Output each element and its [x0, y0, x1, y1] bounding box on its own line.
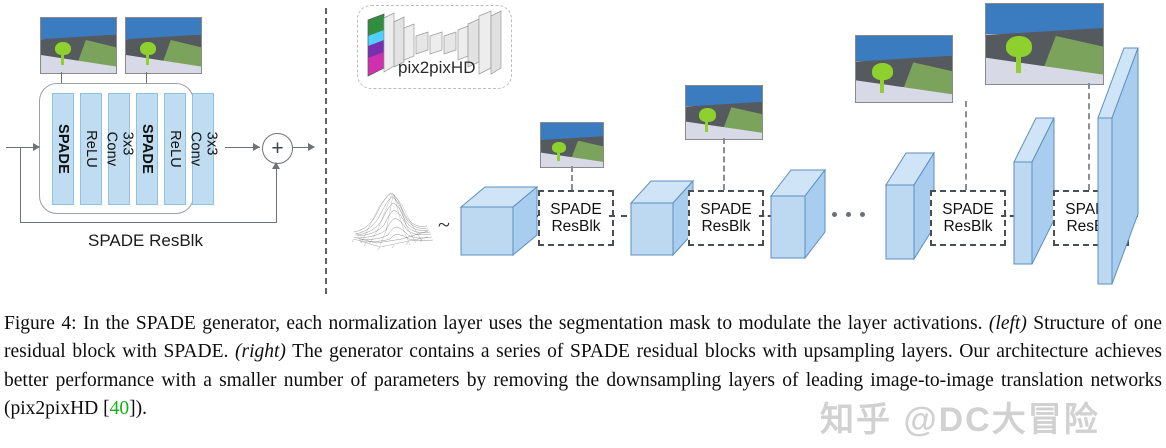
tree-trunk-icon [557, 150, 560, 161]
arrowhead-icon [308, 143, 315, 151]
layer-conv[interactable]: 3x3 Conv [108, 93, 130, 205]
segmentation-mask-image [540, 122, 604, 168]
caption-text-4: ]). [129, 398, 147, 419]
layer-spade[interactable]: SPADE [136, 93, 158, 205]
spade-resblk-node[interactable]: SPADE ResBlk [538, 190, 614, 246]
caption-prefix: Figure 4: [4, 313, 77, 334]
resblk-label-line1: SPADE [550, 201, 601, 218]
layer-label: SPADE [139, 124, 155, 174]
resblk-label-line1: SPADE [942, 201, 993, 218]
gaussian-noise-plot-icon [350, 185, 434, 255]
mask-to-resblk-connector [723, 138, 725, 190]
right-panel: pix2pixHD [340, 0, 1166, 300]
layer-conv[interactable]: 3x3 Conv [192, 93, 214, 205]
segmentation-mask-image [855, 35, 953, 103]
layer-label: 3x3 Conv [187, 132, 219, 167]
skip-connection-down [20, 147, 21, 223]
feature-block[interactable] [455, 183, 543, 263]
figure-caption: Figure 4: In the SPADE generator, each n… [4, 310, 1162, 423]
arrowhead-icon [253, 143, 260, 151]
layer-label: SPADE [55, 124, 71, 174]
layer-label: ReLU [83, 130, 99, 168]
layer-relu[interactable]: ReLU [164, 93, 186, 205]
caption-emphasis-left: (left) [989, 313, 1027, 334]
left-panel: SPADE ReLU 3x3 Conv SPADE ReLU 3x3 Conv … [0, 0, 325, 300]
tree-trunk-icon [1016, 52, 1021, 73]
mask-to-resblk-connector [571, 166, 573, 190]
layer-label: 3x3 Conv [103, 132, 135, 167]
spade-resblk-node[interactable]: SPADE ResBlk [930, 190, 1006, 246]
resblk-label-line2: ResBlk [701, 218, 750, 235]
segmentation-mask-image [40, 17, 117, 74]
caption-text-1: In the SPADE generator, each normalizati… [77, 313, 989, 334]
mask-to-resblk-connector [965, 101, 967, 190]
arrowhead-icon [33, 143, 40, 151]
resblk-label-line2: ResBlk [551, 218, 600, 235]
tree-trunk-icon [61, 51, 64, 65]
layer-label: ReLU [167, 130, 183, 168]
citation-link[interactable]: 40 [110, 398, 130, 419]
pix2pixhd-label: pix2pixHD [398, 58, 475, 78]
ellipsis [832, 212, 865, 217]
distributed-as-symbol: ~ [438, 212, 450, 238]
arrowhead-icon [272, 162, 280, 169]
segmentation-mask-image [125, 17, 202, 74]
pix2pixhd-inset[interactable]: pix2pixHD [357, 5, 512, 89]
skip-connection-up [276, 168, 277, 223]
spade-resblk-node[interactable]: SPADE ResBlk [688, 190, 764, 246]
layer-relu[interactable]: ReLU [80, 93, 102, 205]
sum-symbol: + [271, 138, 283, 159]
tree-trunk-icon [705, 119, 708, 132]
skip-connection-across [20, 222, 277, 223]
tree-trunk-icon [880, 76, 884, 93]
output-feature-block[interactable] [1092, 38, 1150, 288]
spade-resblk-label: SPADE ResBlk [88, 232, 203, 250]
segmentation-mask-image [985, 3, 1104, 85]
segmentation-mask-image [685, 85, 763, 140]
tree-trunk-icon [146, 51, 149, 65]
panel-divider [325, 8, 327, 294]
resblk-label-line1: SPADE [700, 201, 751, 218]
figure-canvas: SPADE ReLU 3x3 Conv SPADE ReLU 3x3 Conv … [0, 0, 1166, 300]
layer-spade[interactable]: SPADE [52, 93, 74, 205]
mask-to-resblk-connector [1088, 83, 1090, 190]
resblk-label-line2: ResBlk [943, 218, 992, 235]
feature-block[interactable] [765, 162, 839, 266]
caption-emphasis-right: (right) [235, 341, 286, 362]
sum-node[interactable]: + [262, 133, 293, 164]
